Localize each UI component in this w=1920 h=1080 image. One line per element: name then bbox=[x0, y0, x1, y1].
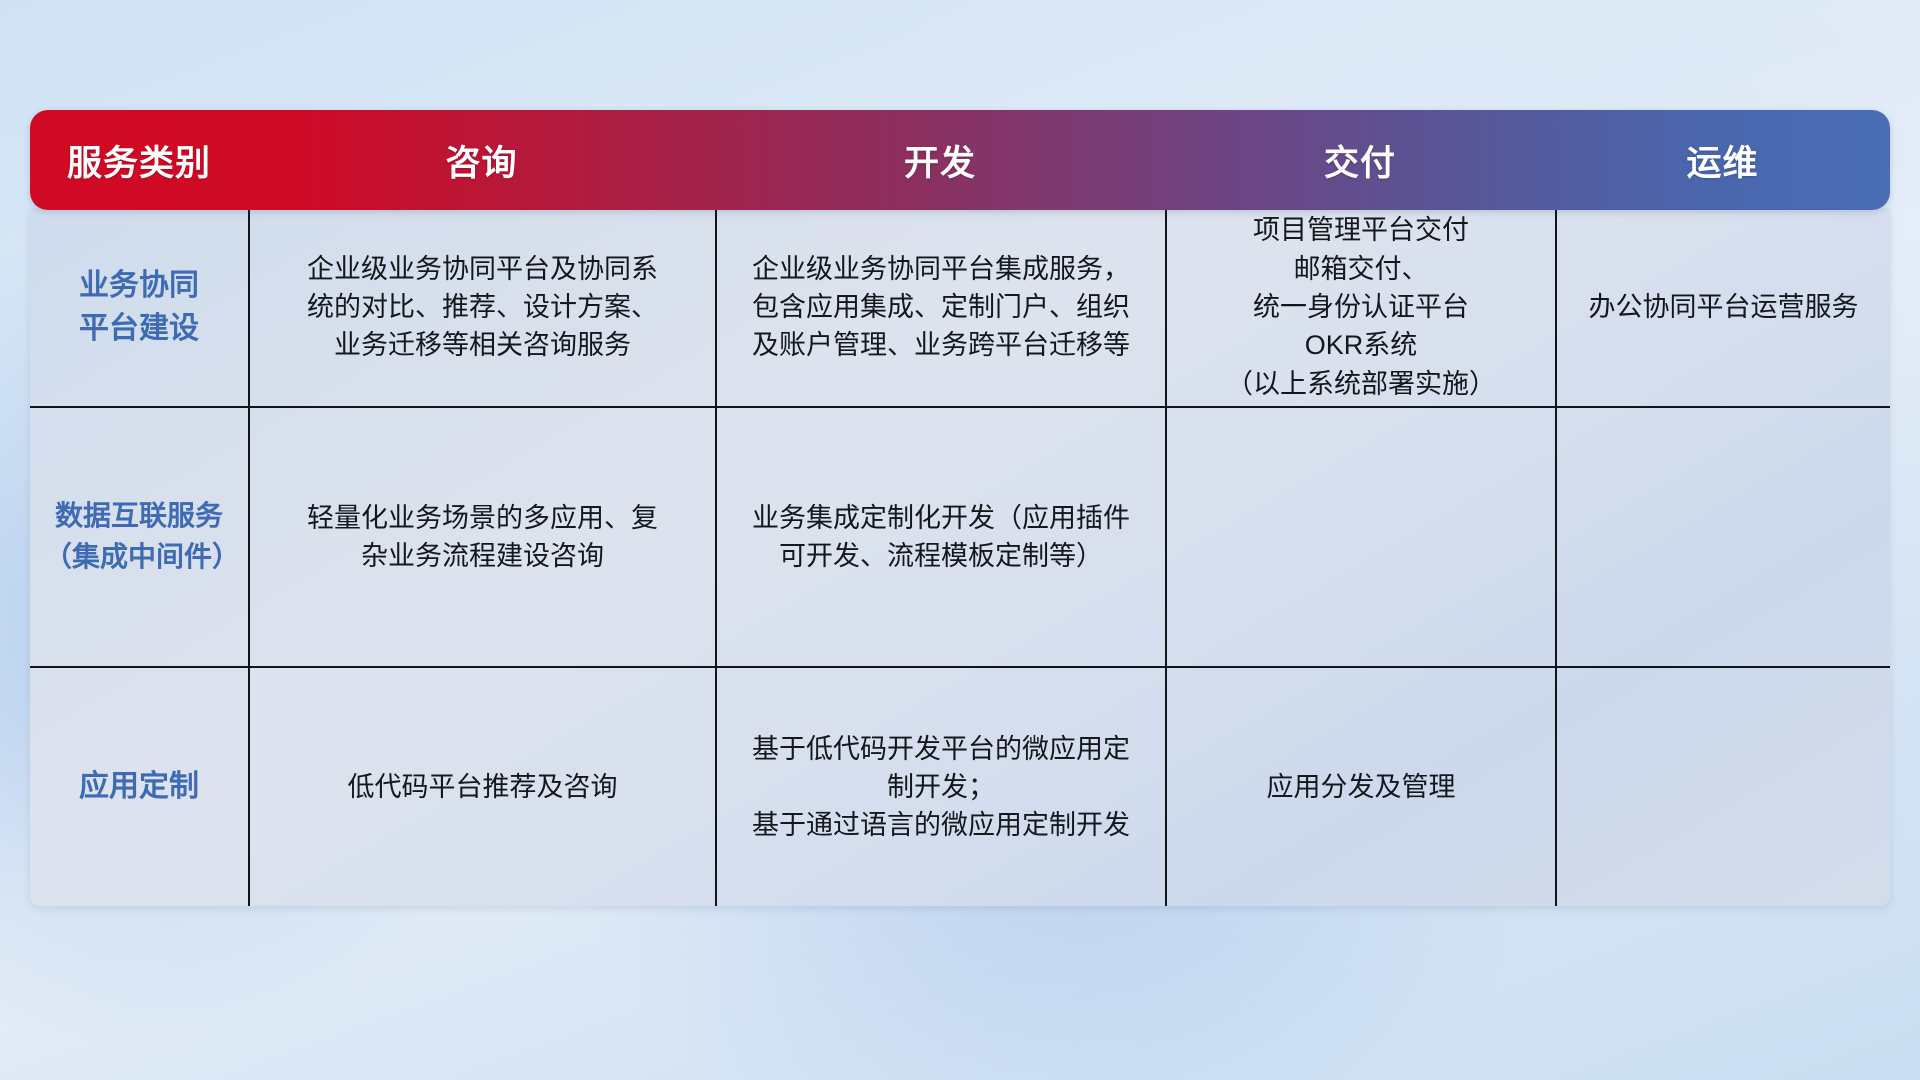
cell-text: 基于低代码开发平台的微应用定 制开发； 基于通过语言的微应用定制开发 bbox=[752, 730, 1130, 845]
cell-consulting: 企业级业务协同平台及协同系 统的对比、推荐、设计方案、 业务迁移等相关咨询服务 bbox=[248, 208, 715, 406]
row-category-cell: 业务协同 平台建设 bbox=[30, 208, 248, 406]
cell-operations bbox=[1555, 668, 1890, 906]
row-category-cell: 应用定制 bbox=[30, 668, 248, 906]
column-header-consulting: 咨询 bbox=[248, 110, 715, 210]
slide-canvas: 服务类别 咨询 开发 交付 运维 业务协同 平台建设 企业级业务协同平台及协同系… bbox=[0, 0, 1920, 1080]
cell-operations: 办公协同平台运营服务 bbox=[1555, 208, 1890, 406]
table-header-row: 服务类别 咨询 开发 交付 运维 bbox=[30, 110, 1890, 210]
column-header-development: 开发 bbox=[715, 110, 1165, 210]
row-category-label: 业务协同 平台建设 bbox=[79, 264, 199, 351]
cell-text: 项目管理平台交付 邮箱交付、 统一身份认证平台 OKR系统 （以上系统部署实施） bbox=[1226, 211, 1496, 403]
column-header-delivery: 交付 bbox=[1165, 110, 1555, 210]
table-body: 业务协同 平台建设 企业级业务协同平台及协同系 统的对比、推荐、设计方案、 业务… bbox=[30, 208, 1890, 906]
table-row: 数据互联服务 （集成中间件） 轻量化业务场景的多应用、复 杂业务流程建设咨询 业… bbox=[30, 406, 1890, 666]
table-row: 业务协同 平台建设 企业级业务协同平台及协同系 统的对比、推荐、设计方案、 业务… bbox=[30, 208, 1890, 406]
cell-development: 基于低代码开发平台的微应用定 制开发； 基于通过语言的微应用定制开发 bbox=[715, 668, 1165, 906]
service-matrix-table: 服务类别 咨询 开发 交付 运维 业务协同 平台建设 企业级业务协同平台及协同系… bbox=[30, 110, 1890, 906]
cell-delivery: 项目管理平台交付 邮箱交付、 统一身份认证平台 OKR系统 （以上系统部署实施） bbox=[1165, 208, 1555, 406]
row-category-label: 应用定制 bbox=[79, 765, 199, 809]
cell-text: 低代码平台推荐及咨询 bbox=[348, 768, 618, 806]
cell-development: 业务集成定制化开发（应用插件 可开发、流程模板定制等） bbox=[715, 408, 1165, 666]
column-header-category: 服务类别 bbox=[30, 110, 248, 210]
row-category-cell: 数据互联服务 （集成中间件） bbox=[30, 408, 248, 666]
cell-consulting: 轻量化业务场景的多应用、复 杂业务流程建设咨询 bbox=[248, 408, 715, 666]
cell-text: 办公协同平台运营服务 bbox=[1589, 288, 1859, 326]
cell-text: 应用分发及管理 bbox=[1267, 768, 1456, 806]
column-header-operations: 运维 bbox=[1555, 110, 1890, 210]
cell-text: 企业级业务协同平台及协同系 统的对比、推荐、设计方案、 业务迁移等相关咨询服务 bbox=[307, 250, 658, 365]
cell-text: 轻量化业务场景的多应用、复 杂业务流程建设咨询 bbox=[307, 499, 658, 576]
cell-consulting: 低代码平台推荐及咨询 bbox=[248, 668, 715, 906]
cell-text: 业务集成定制化开发（应用插件 可开发、流程模板定制等） bbox=[752, 499, 1130, 576]
cell-development: 企业级业务协同平台集成服务， 包含应用集成、定制门户、组织 及账户管理、业务跨平… bbox=[715, 208, 1165, 406]
row-category-label: 数据互联服务 （集成中间件） bbox=[44, 496, 234, 577]
cell-text: 企业级业务协同平台集成服务， 包含应用集成、定制门户、组织 及账户管理、业务跨平… bbox=[752, 250, 1130, 365]
cell-delivery: 应用分发及管理 bbox=[1165, 668, 1555, 906]
cell-delivery bbox=[1165, 408, 1555, 666]
cell-operations bbox=[1555, 408, 1890, 666]
table-row: 应用定制 低代码平台推荐及咨询 基于低代码开发平台的微应用定 制开发； 基于通过… bbox=[30, 666, 1890, 906]
